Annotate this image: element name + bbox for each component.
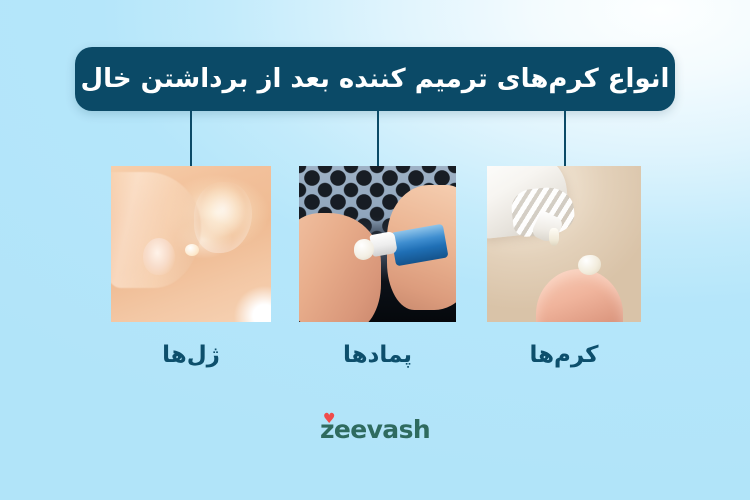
page-title: انواع کرم‌های ترمیم کننده بعد از برداشتن… bbox=[81, 66, 670, 92]
title-banner: انواع کرم‌های ترمیم کننده بعد از برداشتن… bbox=[75, 47, 675, 111]
brand-logo: ♥ zeevash bbox=[0, 417, 750, 442]
connector-line-ointments bbox=[377, 111, 379, 166]
card-label-gels: ژل‌ها bbox=[111, 344, 271, 367]
connector-line-creams bbox=[564, 111, 566, 166]
photo-ointment-tube bbox=[299, 166, 456, 322]
card-label-creams: کرم‌ها bbox=[487, 344, 641, 367]
card-gels: ژل‌ها bbox=[111, 166, 271, 367]
heart-icon: ♥ bbox=[323, 414, 334, 425]
logo-inner: ♥ zeevash bbox=[320, 417, 430, 442]
photo-gel-on-skin bbox=[111, 166, 271, 322]
card-label-ointments: پمادها bbox=[299, 344, 456, 367]
card-ointments: پمادها bbox=[299, 166, 456, 367]
thumbnail-gels bbox=[111, 166, 271, 322]
logo-wordmark: zeevash bbox=[320, 415, 430, 444]
cream-strand-shape bbox=[549, 228, 560, 245]
gel-drip-shape bbox=[194, 182, 252, 254]
gel-drop-shape bbox=[185, 244, 199, 256]
thumbnail-ointments bbox=[299, 166, 456, 322]
infographic-canvas: انواع کرم‌های ترمیم کننده بعد از برداشتن… bbox=[0, 0, 750, 500]
fingertip-shape bbox=[536, 269, 622, 322]
card-creams: کرم‌ها bbox=[487, 166, 641, 367]
photo-cream-tube bbox=[487, 166, 641, 322]
ointment-tube-nozzle bbox=[370, 231, 399, 257]
connector-line-gels bbox=[190, 111, 192, 166]
thumbnail-creams bbox=[487, 166, 641, 322]
